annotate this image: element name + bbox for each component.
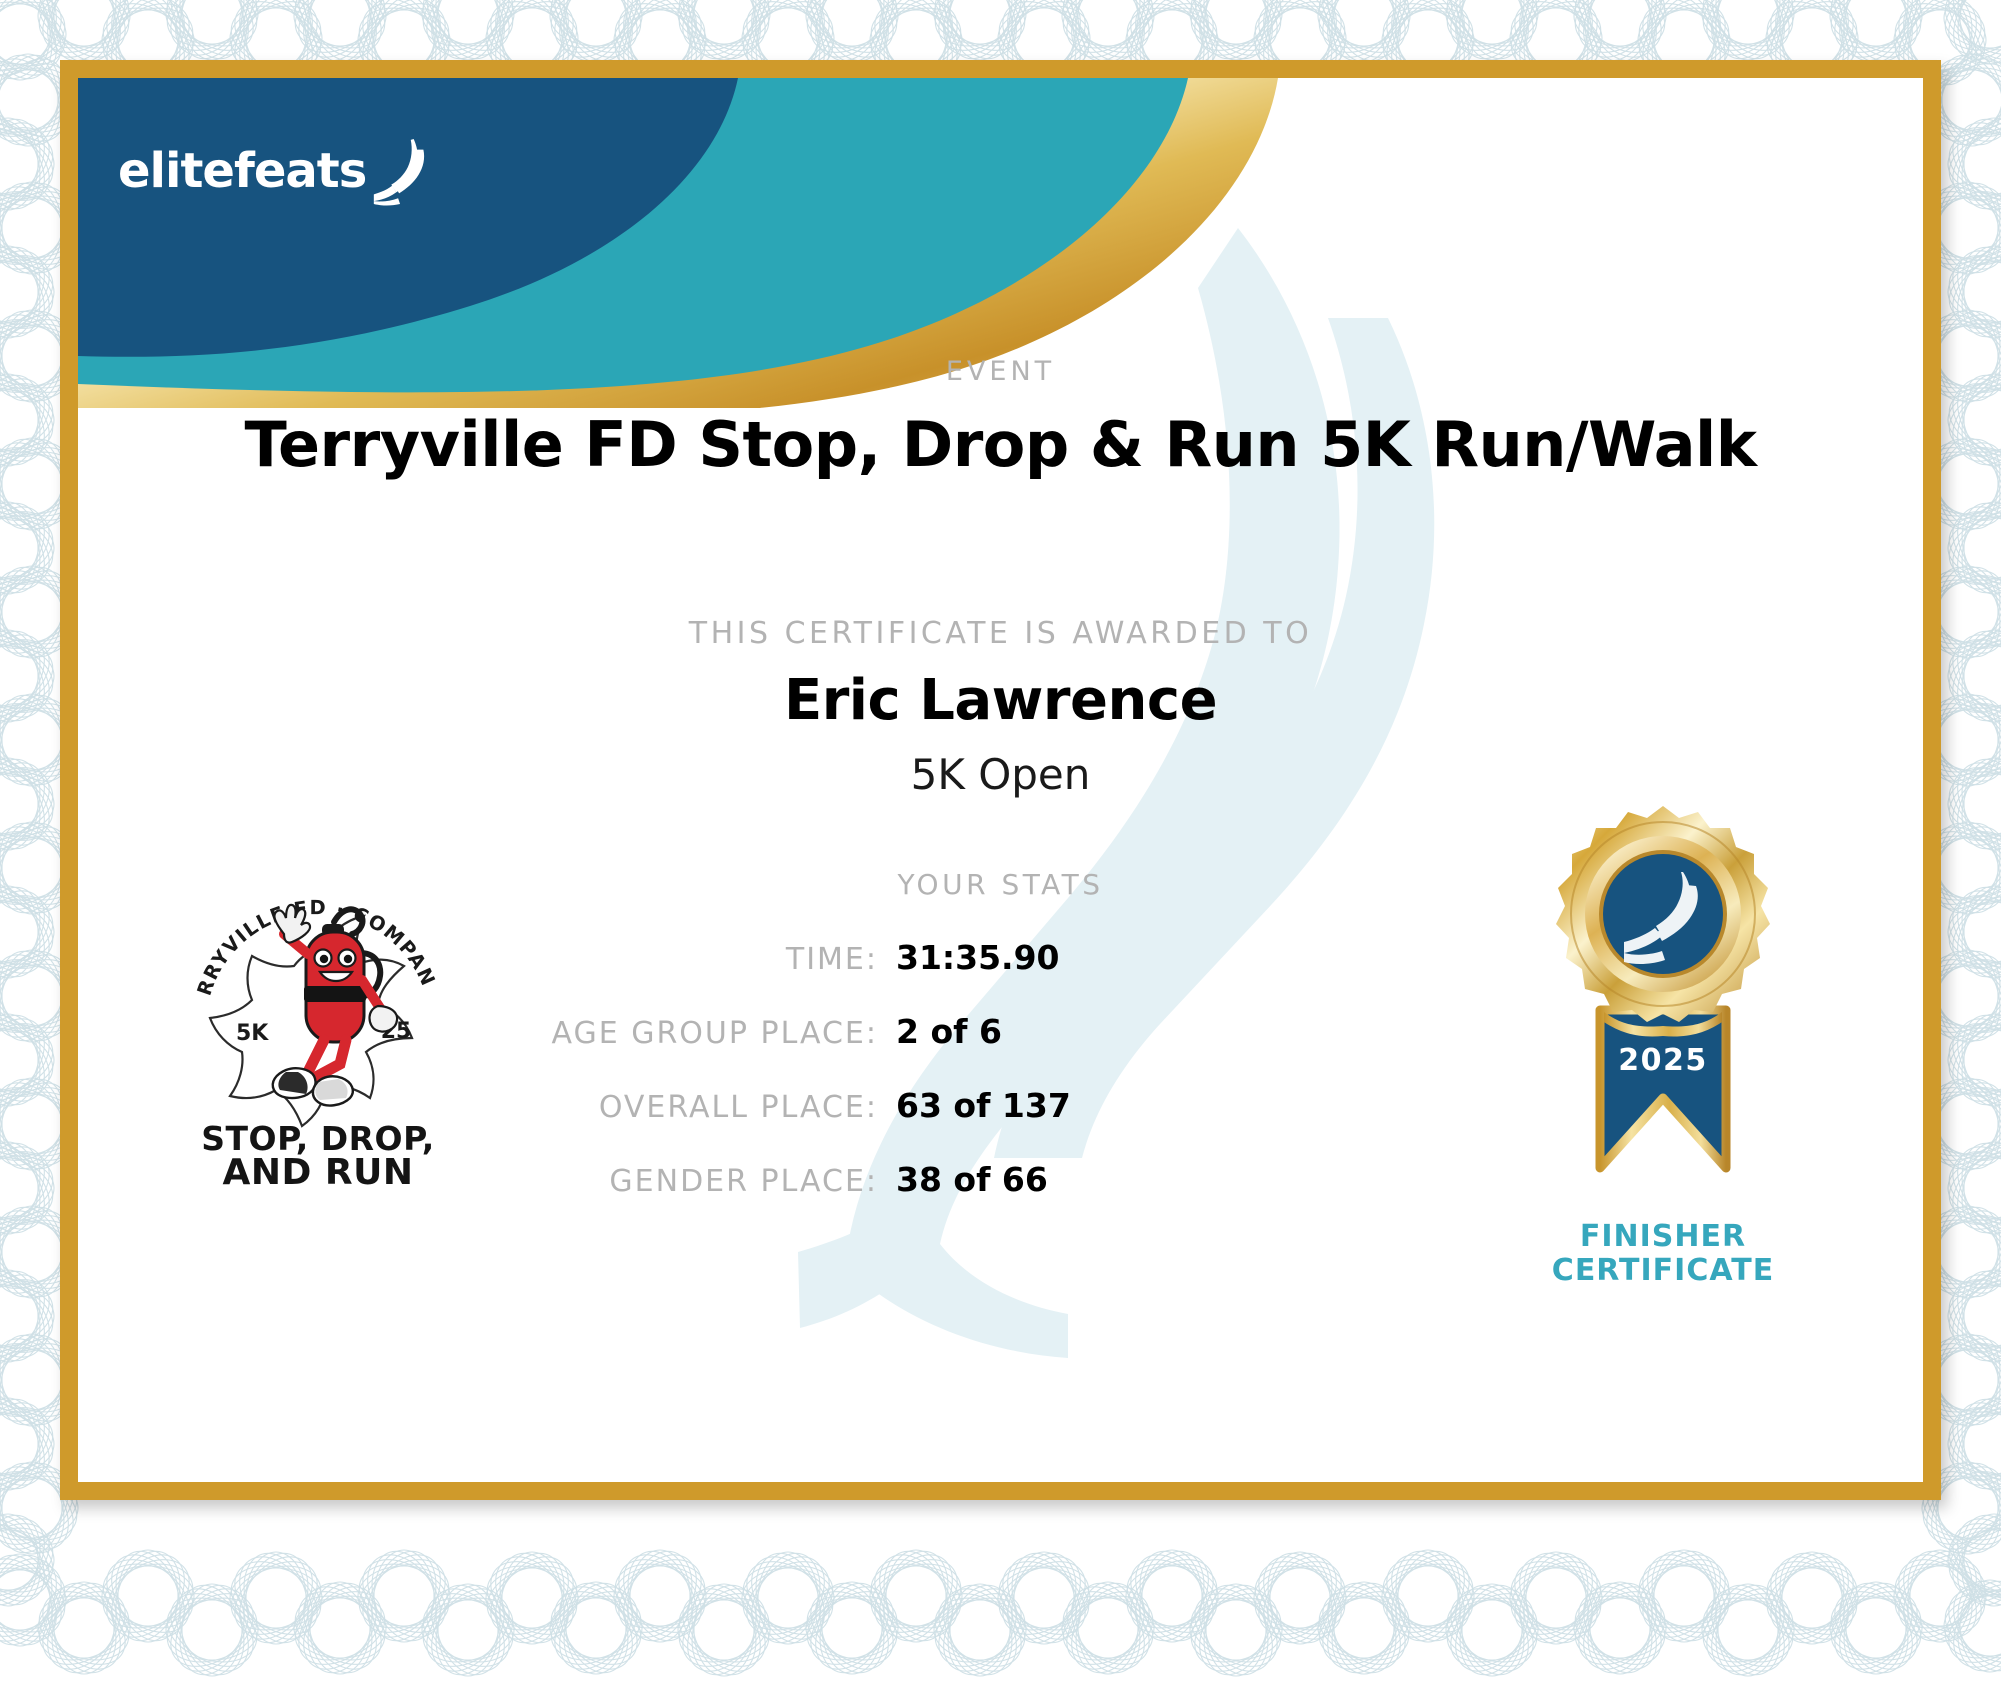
stat-value-time: 31:35.90 <box>878 938 1108 977</box>
stat-label-age-group-place: AGE GROUP PLACE: <box>408 1016 878 1051</box>
finisher-caption-line2: CERTIFICATE <box>1513 1254 1813 1288</box>
stat-row-overall-place: OVERALL PLACE: 63 of 137 <box>408 1086 1108 1132</box>
finisher-medal-block: 2025 <box>1513 798 1813 1287</box>
event-label: EVENT <box>78 356 1923 387</box>
finisher-medal: 2025 <box>1528 798 1798 1218</box>
race-logo-left-badge: 5K <box>236 1021 269 1046</box>
winged-foot-icon <box>368 136 436 206</box>
finisher-caption: FINISHER CERTIFICATE <box>1513 1220 1813 1287</box>
recipient-name: Eric Lawrence <box>78 668 1923 733</box>
awarded-to-label: THIS CERTIFICATE IS AWARDED TO <box>78 616 1923 651</box>
event-title: Terryville FD Stop, Drop & Run 5K Run/Wa… <box>78 408 1923 481</box>
stat-label-gender-place: GENDER PLACE: <box>408 1164 878 1199</box>
stat-label-time: TIME: <box>408 942 878 977</box>
medal-ribbon: 2025 <box>1600 1010 1726 1168</box>
stat-row-age-group-place: AGE GROUP PLACE: 2 of 6 <box>408 1012 1108 1058</box>
recipient-division: 5K Open <box>78 750 1923 799</box>
stat-value-overall-place: 63 of 137 <box>878 1086 1108 1125</box>
race-logo-line2: AND RUN <box>223 1152 414 1188</box>
brand-wordmark: elitefeats <box>118 147 366 195</box>
stats-table: TIME: 31:35.90 AGE GROUP PLACE: 2 of 6 O… <box>408 938 1108 1234</box>
race-event-logo: TERRYVILLE FD · COMPANY 2 5K '25 <box>188 858 448 1188</box>
stat-row-gender-place: GENDER PLACE: 38 of 66 <box>408 1160 1108 1206</box>
finisher-caption-line1: FINISHER <box>1513 1220 1813 1254</box>
stat-value-gender-place: 38 of 66 <box>878 1160 1108 1199</box>
medal-rosette <box>1556 806 1770 1022</box>
stat-label-overall-place: OVERALL PLACE: <box>408 1090 878 1125</box>
stat-row-time: TIME: 31:35.90 <box>408 938 1108 984</box>
elitefeats-logo: elitefeats <box>118 126 448 216</box>
stat-value-age-group-place: 2 of 6 <box>878 1012 1108 1051</box>
certificate-paper: elitefeats EVENT Terryville FD Stop, Dro… <box>78 78 1923 1482</box>
certificate-gold-frame: elitefeats EVENT Terryville FD Stop, Dro… <box>60 60 1941 1500</box>
certificate-root: elitefeats EVENT Terryville FD Stop, Dro… <box>0 0 2001 1700</box>
medal-year: 2025 <box>1618 1043 1708 1078</box>
